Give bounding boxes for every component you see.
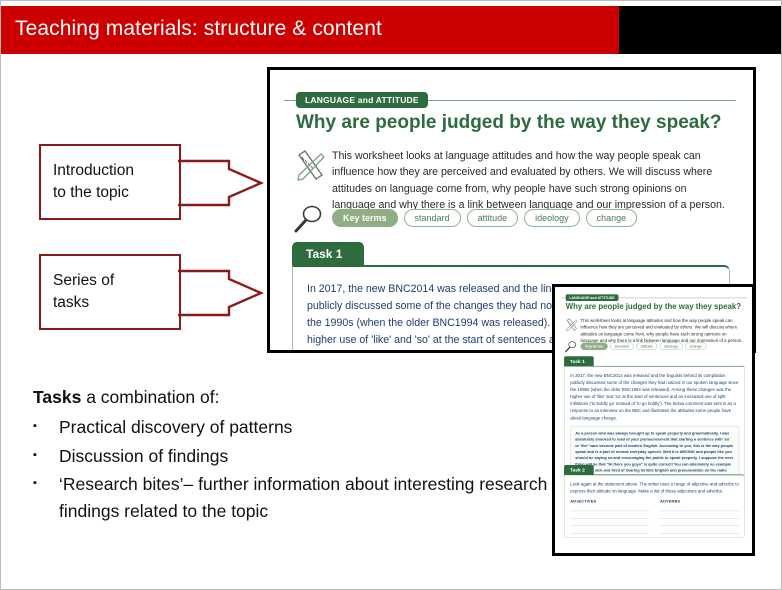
thumb-task2-columns: ADJECTIVES ADVERBS (570, 499, 739, 533)
callout-introduction: Introduction to the topic (39, 144, 181, 220)
key-terms-row: Key terms standard attitude ideology cha… (332, 209, 637, 227)
list-item: ▪ Practical discovery of patterns (33, 414, 553, 441)
thumb-write-line[interactable] (570, 504, 649, 511)
thumb-write-line[interactable] (570, 519, 649, 526)
thumb-key-terms-label: Key terms (581, 343, 608, 350)
callout-introduction-line1: Introduction (53, 162, 134, 179)
thumb-task2-box: Look again at the statement above. The w… (564, 474, 744, 538)
thumb-write-line[interactable] (570, 526, 649, 533)
list-item-text: ‘Research bites’– further information ab… (59, 471, 553, 524)
tasks-summary-heading: Tasks a combination of: (33, 387, 553, 408)
thumb-task1-text: In 2017, the new BNC2014 was released an… (570, 372, 739, 421)
thumb-write-line[interactable] (570, 511, 649, 518)
worksheet-topic-badge: LANGUAGE and ATTITUDE (296, 92, 428, 108)
worksheet-thumbnail-image: LANGUAGE and ATTITUDE Why are people jud… (552, 284, 755, 556)
tasks-summary-block: Tasks a combination of: ▪ Practical disc… (33, 387, 553, 526)
key-term-attitude: attitude (467, 209, 519, 227)
worksheet-heading: Why are people judged by the way they sp… (296, 112, 722, 134)
thumb-topic-badge: LANGUAGE and ATTITUDE (566, 294, 619, 301)
right-arrow-icon-introduction (177, 159, 265, 207)
thumb-pencil-ruler-icon (565, 318, 577, 331)
bullet-marker-icon: ▪ (33, 414, 59, 441)
callout-introduction-label: Introduction to the topic (53, 160, 134, 205)
thumb-task2-adjectives-column: ADJECTIVES (570, 499, 649, 533)
thumb-write-line[interactable] (660, 519, 739, 526)
key-term-standard: standard (404, 209, 461, 227)
thumb-intro-text: This worksheet looks at language attitud… (581, 317, 746, 344)
key-terms-label: Key terms (332, 209, 398, 227)
thumb-key-term-change: change (685, 343, 706, 350)
list-item: ▪ ‘Research bites’– further information … (33, 471, 553, 524)
thumb-key-terms-row: Key terms standard attitude ideology cha… (581, 343, 707, 350)
magnifier-icon (293, 204, 327, 234)
thumb-write-line[interactable] (660, 504, 739, 511)
list-item-text: Discussion of findings (59, 443, 553, 470)
thumb-key-term-attitude: attitude (636, 343, 657, 350)
tasks-summary-heading-rest: a combination of: (81, 387, 219, 407)
thumb-task2-adverbs-column: ADVERBS (660, 499, 739, 533)
key-term-ideology: ideology (524, 209, 580, 227)
right-arrow-icon-tasks (177, 269, 265, 317)
thumb-key-term-ideology: ideology (660, 343, 683, 350)
callout-introduction-line2: to the topic (53, 184, 129, 201)
callout-series-line1: Series of (53, 272, 114, 289)
key-term-change: change (586, 209, 638, 227)
thumb-key-term-standard: standard (610, 343, 633, 350)
list-item-text: Practical discovery of patterns (59, 414, 553, 441)
callout-series-of-tasks-label: Series of tasks (53, 270, 114, 315)
worksheet-intro-text: This worksheet looks at language attitud… (332, 148, 732, 214)
page-title: Teaching materials: structure & content (15, 17, 382, 41)
thumb-task1-tab-label: Task 1 (564, 356, 594, 366)
pencil-ruler-icon (295, 150, 325, 182)
callout-series-of-tasks: Series of tasks (39, 254, 181, 330)
bullet-marker-icon: ▪ (33, 471, 59, 524)
worksheet-thumbnail-content: LANGUAGE and ATTITUDE Why are people jud… (555, 287, 754, 555)
task1-tab-label: Task 1 (292, 242, 364, 266)
thumb-write-line[interactable] (660, 526, 739, 533)
thumb-magnifier-icon (564, 341, 578, 353)
thumb-task2-section: Task 2 Look again at the statement above… (564, 465, 744, 538)
callout-series-line2: tasks (53, 294, 89, 311)
thumb-task2-text: Look again at the statement above. The w… (570, 481, 739, 495)
thumb-write-line[interactable] (660, 511, 739, 518)
list-item: ▪ Discussion of findings (33, 443, 553, 470)
thumb-task2-tab-label: Task 2 (564, 465, 594, 475)
thumb-heading: Why are people judged by the way they sp… (566, 303, 741, 312)
bullet-marker-icon: ▪ (33, 443, 59, 470)
slide-title-bar: Teaching materials: structure & content (1, 6, 782, 54)
slide-canvas: Teaching materials: structure & content … (0, 0, 782, 590)
tasks-summary-heading-bold: Tasks (33, 387, 81, 407)
